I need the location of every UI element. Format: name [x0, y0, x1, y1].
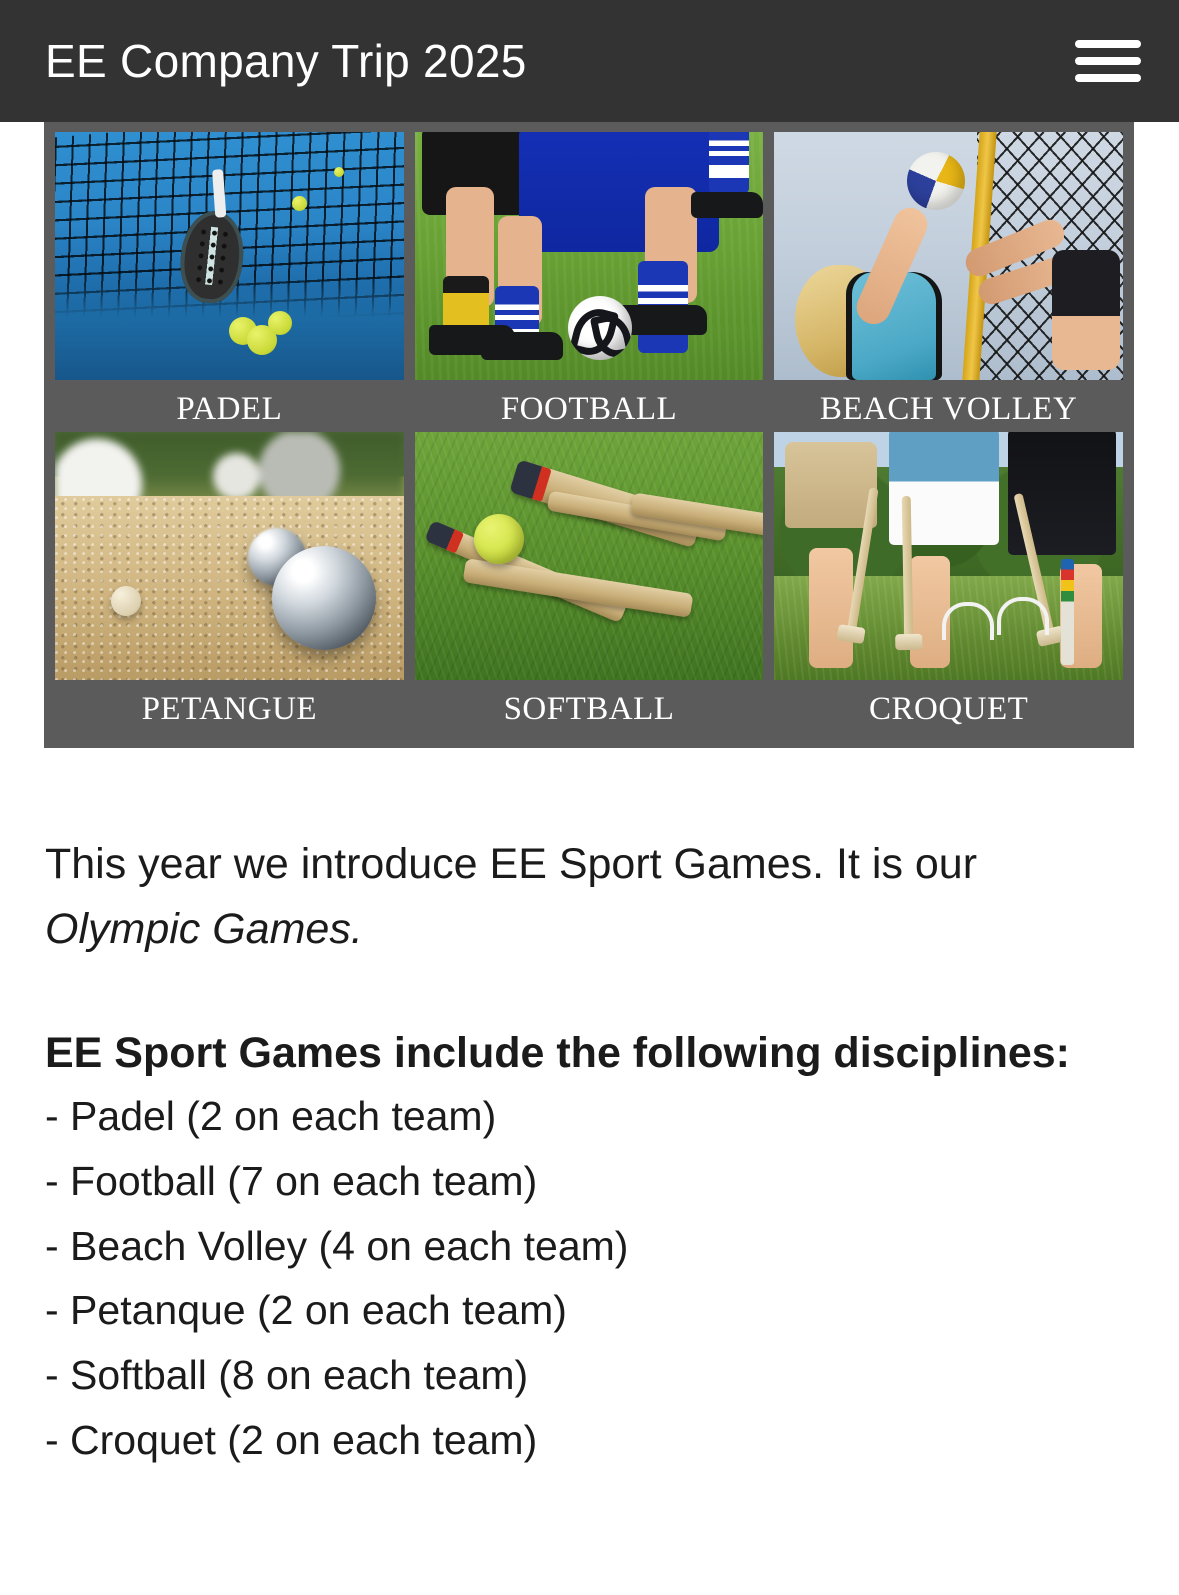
- football-boot: [691, 192, 763, 218]
- gallery-caption-padel: PADEL: [55, 380, 404, 426]
- list-item: - Football (7 on each team): [45, 1149, 1134, 1214]
- site-header: EE Company Trip 2025: [0, 0, 1179, 122]
- intro-paragraph: This year we introduce EE Sport Games. I…: [45, 832, 1134, 961]
- gallery-caption-croquet: CROQUET: [774, 680, 1123, 726]
- gallery-tile-softball[interactable]: SOFTBALL: [415, 432, 764, 726]
- disciplines-heading: EE Sport Games include the following dis…: [45, 1023, 1134, 1084]
- petanque-jack-icon: [111, 586, 141, 616]
- padel-ball-icon: [292, 196, 307, 211]
- gallery-tile-beach-volley[interactable]: BEACH VOLLEY: [774, 132, 1123, 426]
- gallery-tile-padel[interactable]: PADEL: [55, 132, 404, 426]
- softball-photo: [415, 432, 764, 680]
- croquet-hoop-icon: [997, 597, 1049, 635]
- hamburger-bar-2: [1075, 57, 1141, 65]
- padel-ball-icon: [334, 167, 344, 177]
- croquet-hoop-icon: [942, 602, 994, 640]
- list-item: - Croquet (2 on each team): [45, 1408, 1134, 1473]
- football-sock-blue: [709, 132, 749, 194]
- list-item: - Padel (2 on each team): [45, 1084, 1134, 1149]
- opponent-body: [1052, 250, 1120, 370]
- intro-emphasis: Olympic Games.: [45, 905, 363, 953]
- gallery-tile-petangue[interactable]: PETANGUE: [55, 432, 404, 726]
- croquet-photo: [774, 432, 1123, 680]
- page-title: EE Company Trip 2025: [45, 38, 527, 84]
- softball-bat-icon: [463, 558, 694, 618]
- football-ball-icon: [568, 296, 632, 360]
- sports-gallery: PADEL FOOTBALL: [44, 122, 1134, 748]
- football-boot: [481, 332, 563, 360]
- beach-volley-photo: [774, 132, 1123, 380]
- softball-ball-icon: [474, 514, 524, 564]
- hamburger-menu-icon[interactable]: [1075, 37, 1141, 85]
- gallery-tile-croquet[interactable]: CROQUET: [774, 432, 1123, 726]
- background-trees: [55, 432, 404, 506]
- padel-photo: [55, 132, 404, 380]
- volleyball-icon: [907, 152, 965, 210]
- list-item: - Softball (8 on each team): [45, 1343, 1134, 1408]
- padel-racket-icon: [176, 208, 247, 306]
- list-item: - Beach Volley (4 on each team): [45, 1214, 1134, 1279]
- intro-text: This year we introduce EE Sport Games. I…: [45, 840, 977, 888]
- gallery-caption-petangue: PETANGUE: [55, 680, 404, 726]
- padel-ball-icon: [268, 311, 292, 335]
- croquet-peg-icon: [1061, 559, 1074, 665]
- gallery-tile-football[interactable]: FOOTBALL: [415, 132, 764, 426]
- list-item: - Petanque (2 on each team): [45, 1278, 1134, 1343]
- main-content: This year we introduce EE Sport Games. I…: [0, 832, 1179, 1473]
- football-photo: [415, 132, 764, 380]
- gallery-caption-softball: SOFTBALL: [415, 680, 764, 726]
- croquet-player-leg: [910, 556, 950, 668]
- volleyball-player: [792, 226, 952, 380]
- hamburger-bar-3: [1075, 74, 1141, 82]
- gallery-caption-football: FOOTBALL: [415, 380, 764, 426]
- hamburger-bar-1: [1075, 40, 1141, 48]
- croquet-player-leg: [809, 548, 853, 668]
- petangue-photo: [55, 432, 404, 680]
- disciplines-list: - Padel (2 on each team) - Football (7 o…: [45, 1084, 1134, 1473]
- croquet-player-shorts: [785, 442, 877, 528]
- petanque-boule-icon: [272, 546, 376, 650]
- gallery-caption-beach-volley: BEACH VOLLEY: [774, 380, 1123, 426]
